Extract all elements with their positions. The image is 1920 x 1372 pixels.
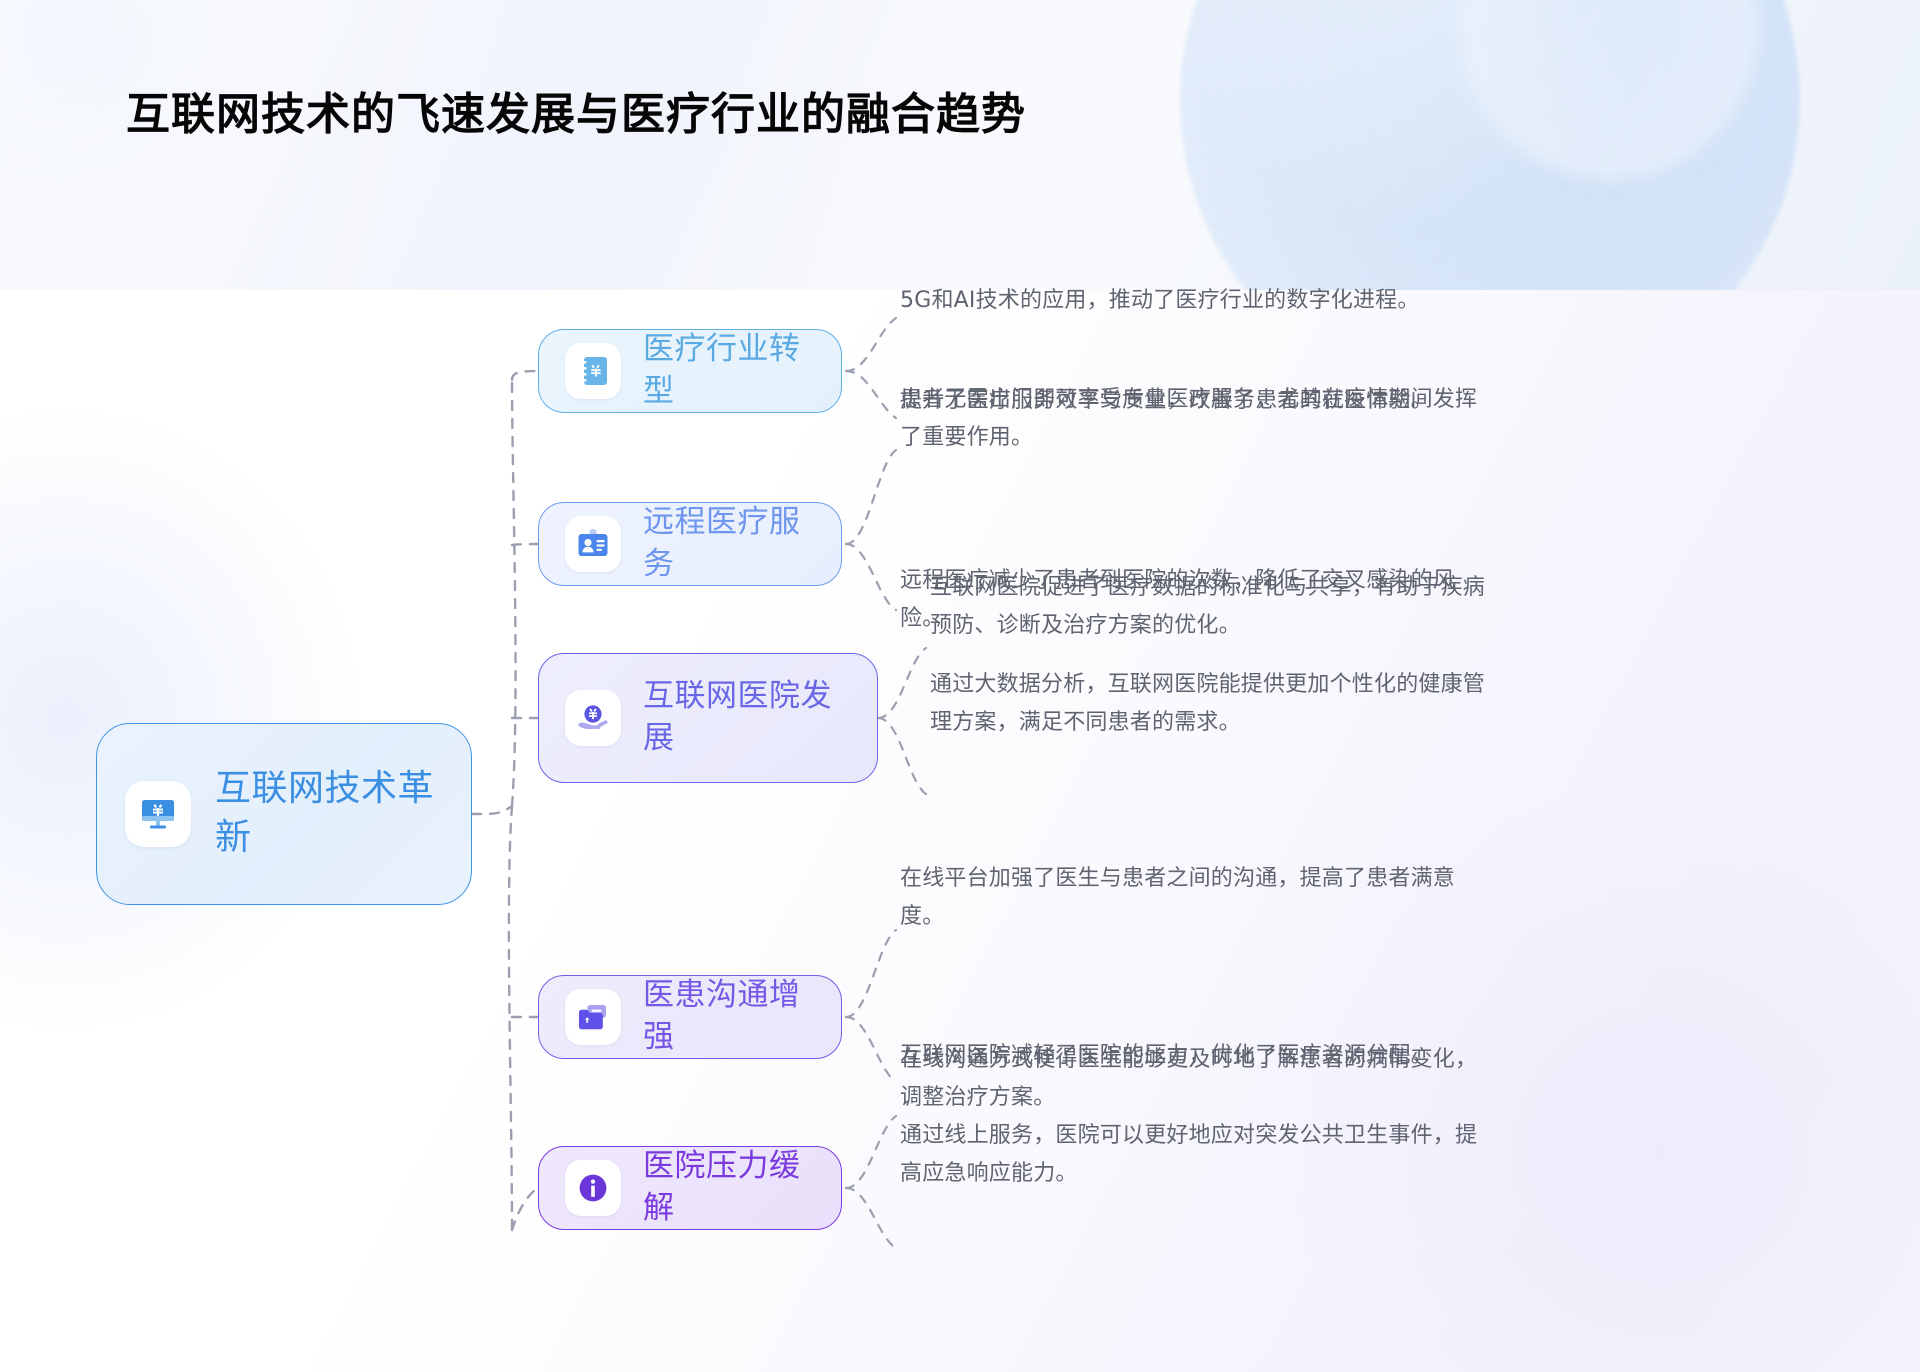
- branch-node-4-label: 医患沟通增强: [643, 975, 815, 1059]
- branch-5-detail-1: 互联网医院减轻了医院的压力，优化了医疗资源分配。: [900, 1037, 1490, 1075]
- branch-3-detail-2: 通过大数据分析，互联网医院能提供更加个性化的健康管理方案，满足不同患者的需求。: [930, 666, 1496, 742]
- branch-node-3[interactable]: 互联网医院发展: [538, 653, 878, 783]
- branch-3-detail-1: 互联网医院促进了医疗数据的标准化与共享，有助于疾病预防、诊断及治疗方案的优化。: [930, 569, 1496, 645]
- hand-coin-yuan-icon: [565, 690, 621, 746]
- branch-1-detail-1: 5G和AI技术的应用，推动了医疗行业的数字化进程。: [900, 282, 1500, 320]
- branch-node-1[interactable]: 医疗行业转型: [538, 329, 842, 413]
- branch-4-detail-1: 在线平台加强了医生与患者之间的沟通，提高了患者满意度。: [900, 860, 1478, 936]
- root-node[interactable]: 互联网技术革新: [96, 723, 472, 905]
- branch-node-2[interactable]: 远程医疗服务: [538, 502, 842, 586]
- branch-2-detail-1: 患者无需出门即可享受专业医疗服务，尤其在疫情期间发挥了重要作用。: [900, 381, 1478, 457]
- branch-5-detail-2: 通过线上服务，医院可以更好地应对突发公共卫生事件，提高应急响应能力。: [900, 1117, 1478, 1193]
- mindmap-page: 互联网技术的飞速发展与医疗行业的融合趋势: [0, 0, 1920, 1372]
- page-header: 互联网技术的飞速发展与医疗行业的融合趋势: [0, 0, 1920, 290]
- branch-node-2-label: 远程医疗服务: [643, 502, 815, 586]
- canvas-tint-left: [0, 410, 360, 1030]
- branch-node-4[interactable]: 医患沟通增强: [538, 975, 842, 1059]
- id-card-icon: [565, 516, 621, 572]
- branch-node-5-label: 医院压力缓解: [643, 1146, 815, 1230]
- root-node-label: 互联网技术革新: [215, 765, 443, 862]
- folder-message-icon: [565, 989, 621, 1045]
- branch-node-5[interactable]: 医院压力缓解: [538, 1146, 842, 1230]
- branch-node-3-label: 互联网医院发展: [643, 676, 843, 760]
- branch-node-1-label: 医疗行业转型: [643, 329, 815, 413]
- monitor-yuan-icon: [125, 781, 191, 847]
- page-title: 互联网技术的飞速发展与医疗行业的融合趋势: [126, 78, 1026, 142]
- notebook-yuan-icon: [565, 343, 621, 399]
- info-circle-icon: [565, 1160, 621, 1216]
